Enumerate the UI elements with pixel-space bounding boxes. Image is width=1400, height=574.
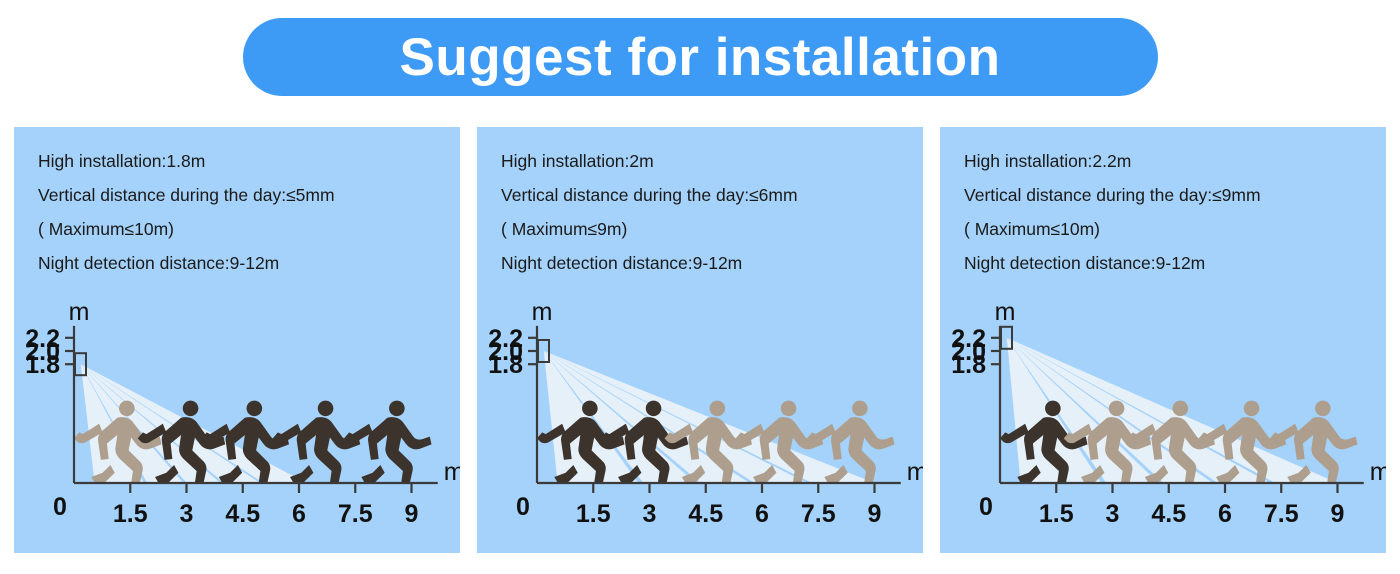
x-tick-label: 4.5 xyxy=(688,500,723,528)
spec-line: High installation:1.8m xyxy=(38,144,450,178)
spec-line: Vertical distance during the day:≤9mm xyxy=(964,178,1376,212)
page-header: Suggest for installation xyxy=(0,0,1400,112)
spec-list: High installation:2mVertical distance du… xyxy=(501,144,913,280)
x-origin-label: 0 xyxy=(516,493,530,521)
spec-line: Vertical distance during the day:≤5mm xyxy=(38,178,450,212)
x-tick-label: 7.5 xyxy=(1264,500,1299,528)
x-origin-label: 0 xyxy=(979,493,993,521)
x-origin-label: 0 xyxy=(53,493,67,521)
x-tick-label: 9 xyxy=(1331,500,1345,528)
y-axis-unit: m xyxy=(995,298,1016,326)
coverage-diagram: 2.22.01.8m1.534.567.590m xyxy=(477,282,923,553)
x-tick-label: 7.5 xyxy=(801,500,836,528)
x-tick-label: 6 xyxy=(1218,500,1232,528)
x-tick-label: 6 xyxy=(755,500,769,528)
x-axis-unit: m xyxy=(1370,458,1386,486)
spec-line: ( Maximum≤9m) xyxy=(501,212,913,246)
y-tick-label: 1.8 xyxy=(951,351,986,379)
y-tick-label: 1.8 xyxy=(488,351,523,379)
x-tick-label: 1.5 xyxy=(1039,500,1074,528)
spec-line: Vertical distance during the day:≤6mm xyxy=(501,178,913,212)
y-axis-unit: m xyxy=(69,298,90,326)
coverage-diagram: 2.22.01.8m1.534.567.590m xyxy=(940,282,1386,553)
spec-line: ( Maximum≤10m) xyxy=(38,212,450,246)
x-axis-unit: m xyxy=(907,458,923,486)
x-tick-label: 3 xyxy=(1106,500,1120,528)
spec-list: High installation:2.2mVertical distance … xyxy=(964,144,1376,280)
spec-line: ( Maximum≤10m) xyxy=(964,212,1376,246)
spec-line: High installation:2.2m xyxy=(964,144,1376,178)
installation-panel: High installation:2.2mVertical distance … xyxy=(940,127,1386,553)
x-tick-label: 1.5 xyxy=(576,500,611,528)
x-tick-label: 3 xyxy=(643,500,657,528)
x-tick-label: 4.5 xyxy=(1151,500,1186,528)
spec-list: High installation:1.8mVertical distance … xyxy=(38,144,450,280)
x-tick-label: 6 xyxy=(292,500,306,528)
x-tick-label: 7.5 xyxy=(338,500,373,528)
x-tick-label: 9 xyxy=(868,500,882,528)
x-axis-unit: m xyxy=(444,458,460,486)
x-tick-label: 9 xyxy=(405,500,419,528)
installation-panel: High installation:2mVertical distance du… xyxy=(477,127,923,553)
spec-line: Night detection distance:9-12m xyxy=(964,246,1376,280)
spec-line: Night detection distance:9-12m xyxy=(501,246,913,280)
installation-panel: High installation:1.8mVertical distance … xyxy=(14,127,460,553)
x-tick-label: 1.5 xyxy=(113,500,148,528)
x-tick-label: 3 xyxy=(180,500,194,528)
page-title: Suggest for installation xyxy=(400,31,1001,84)
x-tick-label: 4.5 xyxy=(225,500,260,528)
coverage-diagram: 2.22.01.8m1.534.567.590m xyxy=(14,282,460,553)
y-tick-label: 1.8 xyxy=(25,351,60,379)
spec-line: Night detection distance:9-12m xyxy=(38,246,450,280)
installation-panels: High installation:1.8mVertical distance … xyxy=(14,127,1388,553)
y-axis-unit: m xyxy=(532,298,553,326)
spec-line: High installation:2m xyxy=(501,144,913,178)
title-banner: Suggest for installation xyxy=(243,18,1158,96)
